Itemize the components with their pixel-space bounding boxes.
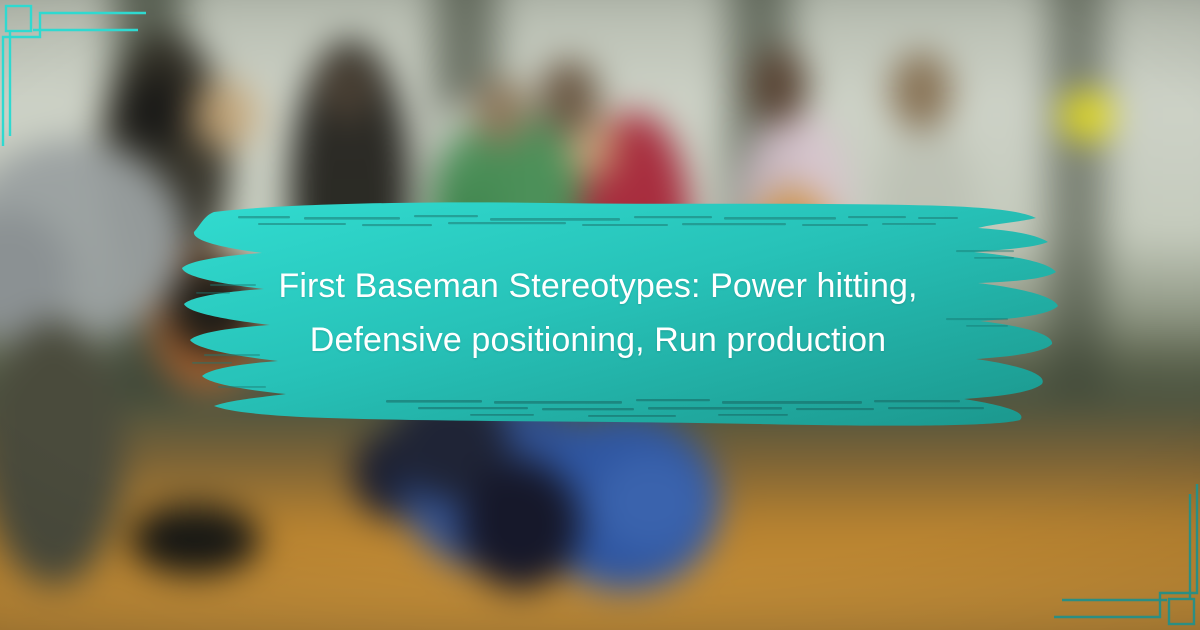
screenshot-canvas: First Baseman Stereotypes: Power hitting… (0, 0, 1200, 630)
title-line-2: Defensive positioning, Run production (214, 314, 982, 368)
corner-outer-line-tl (3, 13, 146, 146)
corner-bracket-top-left (0, 0, 190, 190)
title-line-1: First Baseman Stereotypes: Power hitting… (214, 260, 982, 314)
corner-square-br (1169, 599, 1194, 624)
corner-outer-line-br (1054, 484, 1197, 617)
title-banner: First Baseman Stereotypes: Power hitting… (118, 186, 1078, 442)
corner-bracket-bottom-right (1010, 440, 1200, 630)
corner-square-tl (6, 6, 31, 31)
banner-title-text: First Baseman Stereotypes: Power hitting… (118, 260, 1078, 367)
